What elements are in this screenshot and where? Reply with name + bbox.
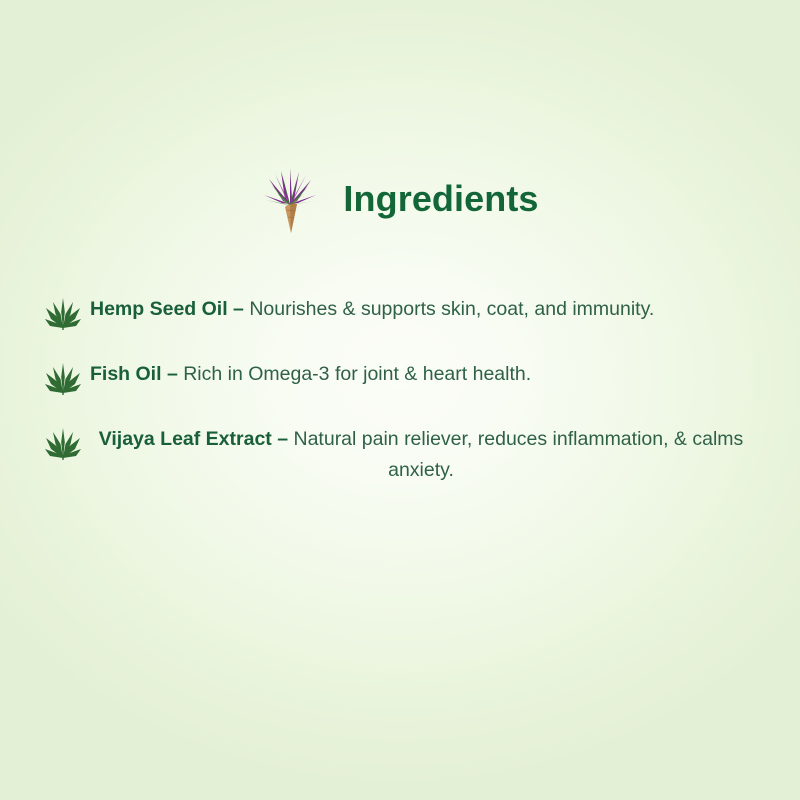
ingredients-list: Hemp Seed Oil – Nourishes & supports ski… <box>44 294 756 486</box>
cannabis-leaf-icon <box>44 359 82 396</box>
vijaya-bouquet-icon <box>261 163 319 235</box>
ingredient-description: Natural pain reliever, reduces inflammat… <box>294 428 744 481</box>
ingredients-panel: Ingredients <box>0 0 800 800</box>
ingredient-item: Hemp Seed Oil – Nourishes & supports ski… <box>44 294 756 331</box>
ingredient-text: Fish Oil – Rich in Omega-3 for joint & h… <box>82 359 756 390</box>
cannabis-leaf-icon <box>44 294 82 331</box>
ingredient-description: Nourishes & supports skin, coat, and imm… <box>249 298 654 320</box>
ingredient-dash: – <box>277 428 288 450</box>
ingredient-name: Fish Oil <box>90 363 162 385</box>
ingredient-text: Hemp Seed Oil – Nourishes & supports ski… <box>82 294 756 325</box>
ingredient-item: Vijaya Leaf Extract – Natural pain relie… <box>44 424 756 486</box>
ingredient-item: Fish Oil – Rich in Omega-3 for joint & h… <box>44 359 756 396</box>
cannabis-leaf-icon <box>44 424 82 461</box>
ingredient-text: Vijaya Leaf Extract – Natural pain relie… <box>82 424 756 486</box>
ingredient-dash: – <box>233 298 244 320</box>
ingredient-name: Vijaya Leaf Extract <box>99 428 272 450</box>
ingredient-name: Hemp Seed Oil <box>90 298 228 320</box>
page-title: Ingredients <box>343 181 538 217</box>
ingredient-description: Rich in Omega-3 for joint & heart health… <box>183 363 531 385</box>
header: Ingredients <box>0 163 800 235</box>
ingredient-dash: – <box>167 363 178 385</box>
